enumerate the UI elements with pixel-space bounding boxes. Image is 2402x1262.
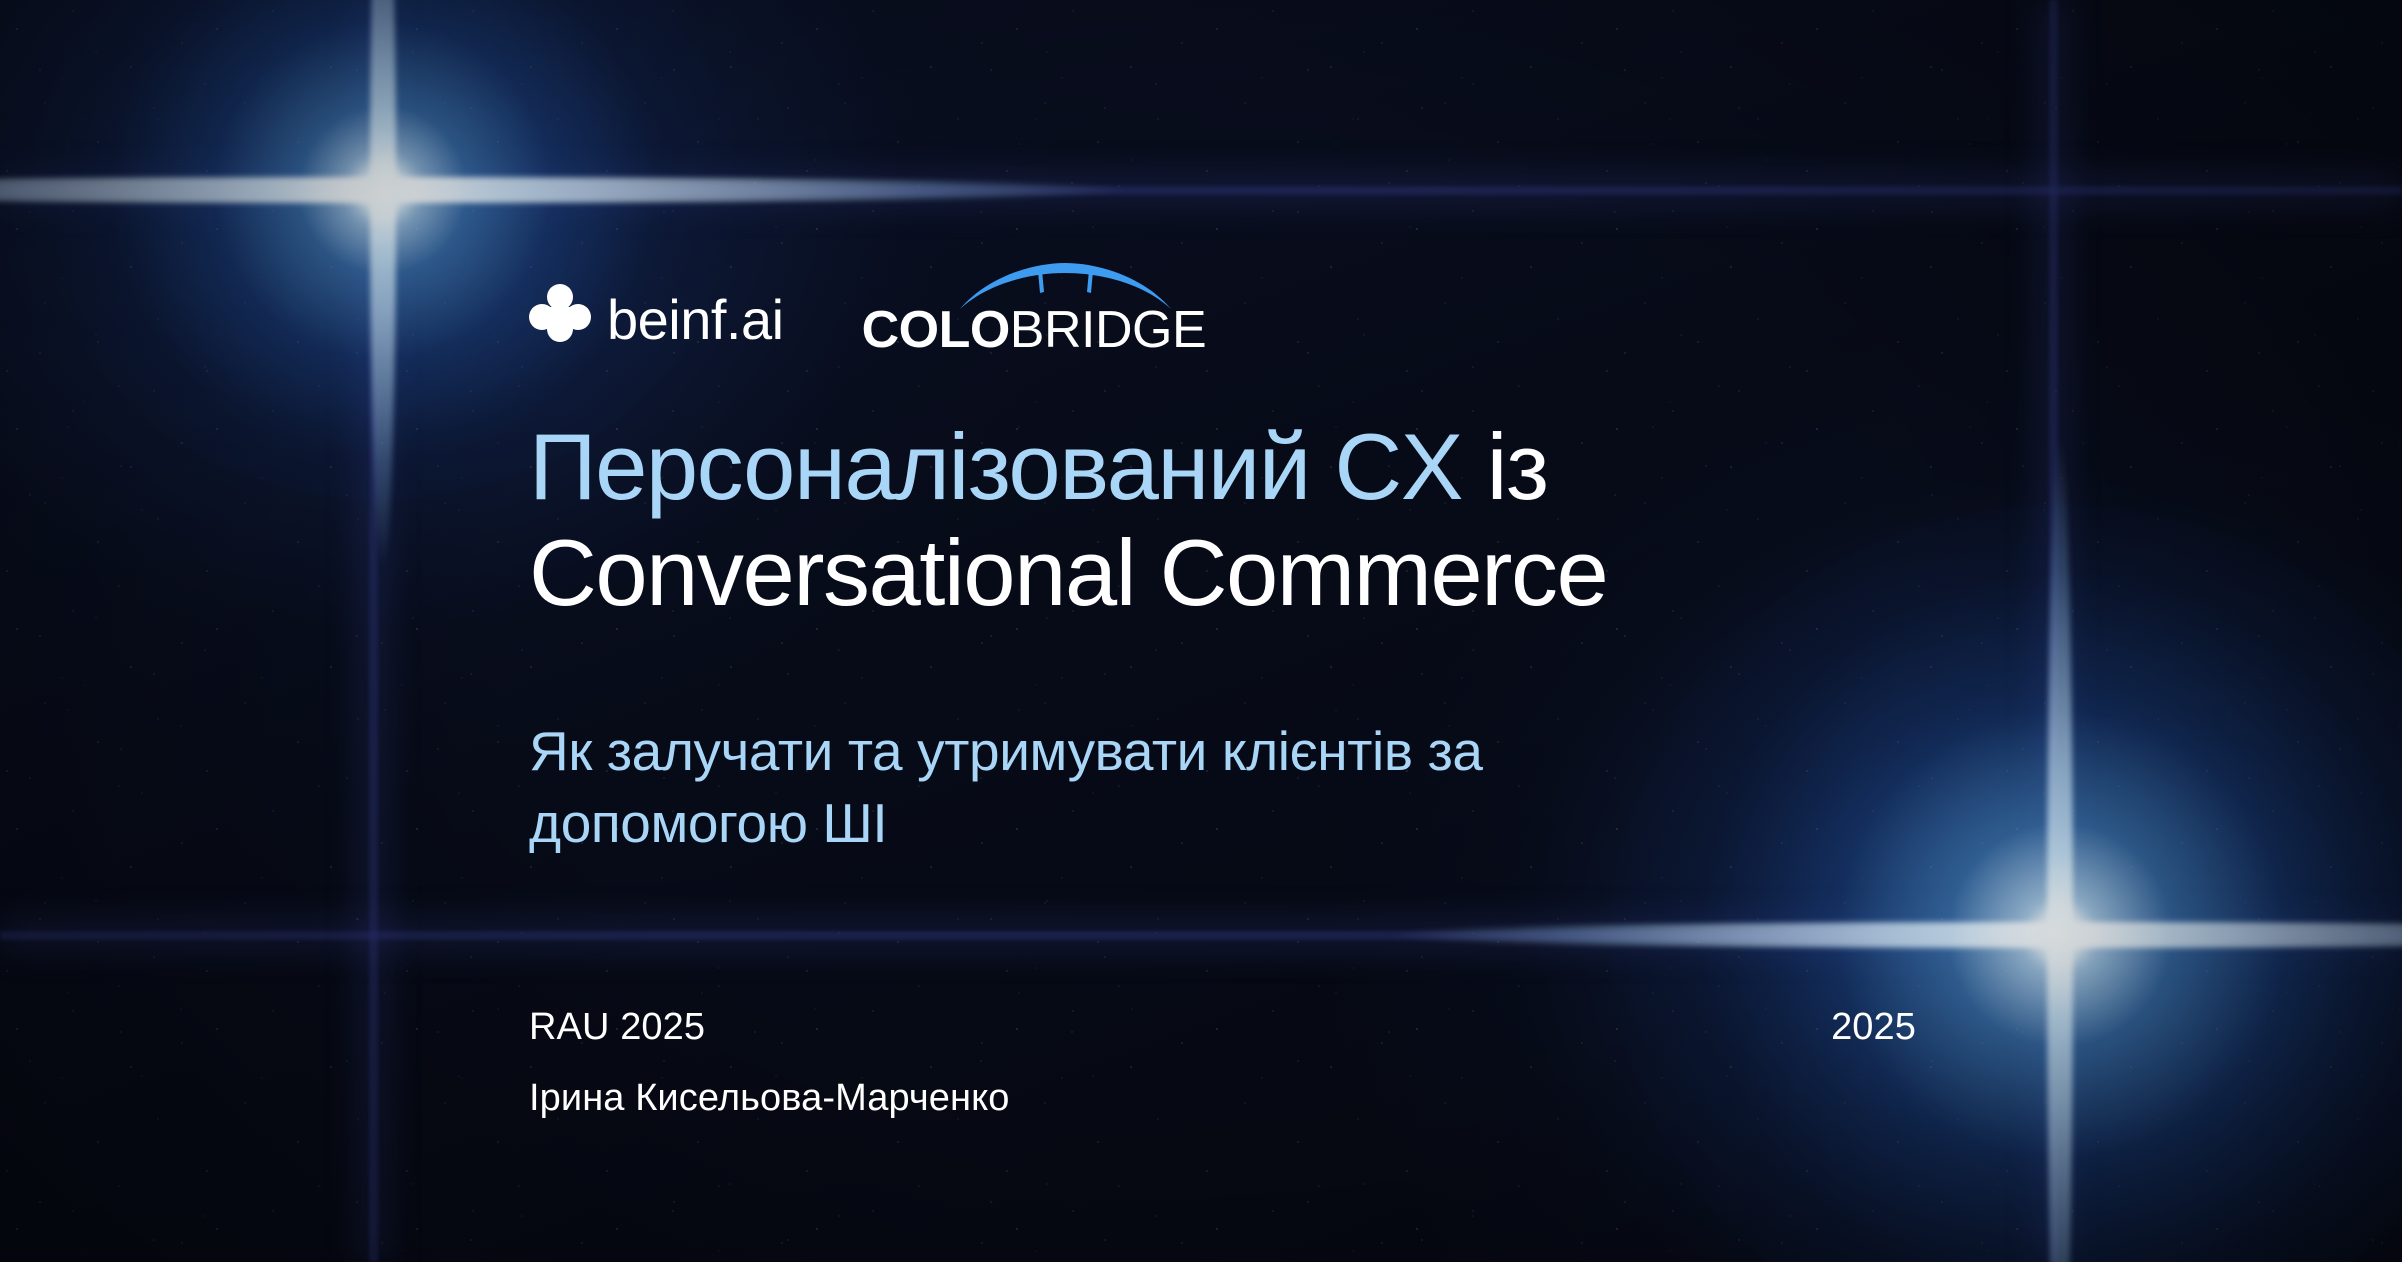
logo-beinf-wordmark: beinf.ai bbox=[607, 292, 784, 348]
footer-author-name: Ірина Кисельова-Марченко bbox=[529, 1079, 1010, 1117]
logo-row: beinf.ai COLOBRIDGE bbox=[529, 262, 1206, 356]
bridge-arch-icon bbox=[958, 262, 1173, 315]
page-title: Персоналізований CX із Conversational Co… bbox=[529, 414, 1929, 626]
title-accent-text: Персоналізований CX bbox=[529, 414, 1487, 519]
logo-colobridge: COLOBRIDGE bbox=[862, 262, 1207, 356]
page-subtitle: Як залучати та утримувати клієнтів за до… bbox=[529, 716, 1769, 859]
four-lobe-cross-icon bbox=[529, 283, 591, 356]
title-slide: beinf.ai COLOBRIDGE Персоналізований CX … bbox=[0, 0, 2402, 1262]
slide-content: beinf.ai COLOBRIDGE Персоналізований CX … bbox=[529, 0, 2089, 1262]
footer-year: 2025 bbox=[529, 1008, 1916, 1046]
logo-beinf-ai: beinf.ai bbox=[529, 283, 784, 356]
subtitle-line-2: допомогою ШІ bbox=[529, 788, 1769, 860]
title-tail-text: із bbox=[1487, 414, 1548, 519]
title-line-1: Персоналізований CX із bbox=[529, 414, 1929, 520]
subtitle-line-1: Як залучати та утримувати клієнтів за bbox=[529, 716, 1769, 788]
title-line-2: Conversational Commerce bbox=[529, 520, 1929, 626]
